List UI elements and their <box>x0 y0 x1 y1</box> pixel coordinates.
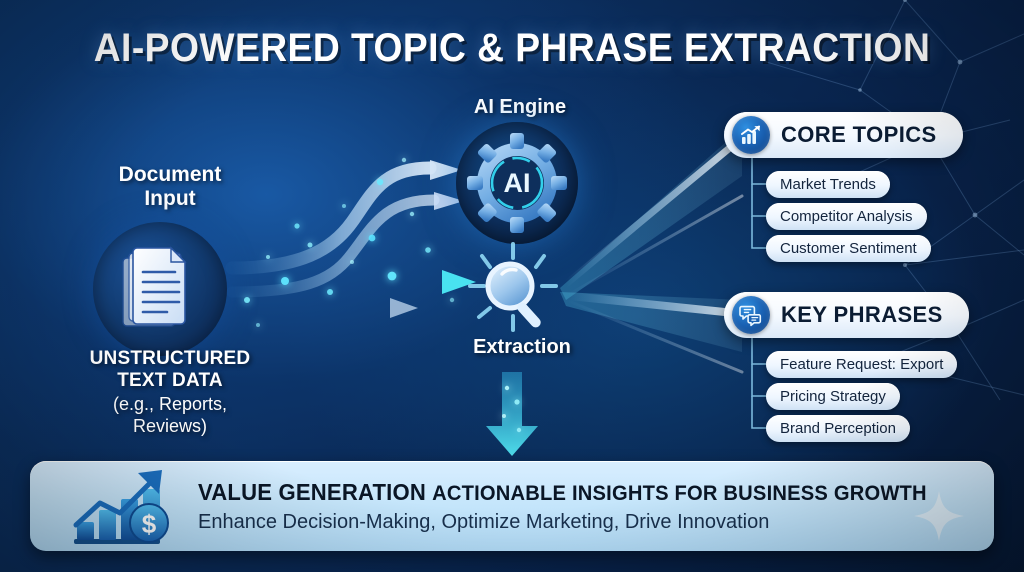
chat-bubbles-icon <box>732 296 770 334</box>
banner-headline: VALUE GENERATION ACTIONABLE INSIGHTS FOR… <box>198 479 927 506</box>
gear-icon: AI <box>456 122 578 244</box>
documents-stack-icon <box>93 222 227 356</box>
category-key-phrases-title: KEY PHRASES <box>781 302 943 328</box>
category-core-topics[interactable]: CORE TOPICS <box>724 112 963 158</box>
ai-engine-circle: AI <box>456 122 578 244</box>
topic-item-label: Competitor Analysis <box>780 208 913 225</box>
category-core-topics-title: CORE TOPICS <box>781 122 937 148</box>
caption-bold-line1: UNSTRUCTURED <box>40 348 300 370</box>
infographic-canvas: AI-POWERED TOPIC & PHRASE EXTRACTION Doc… <box>0 0 1024 572</box>
topic-item-customer-sentiment[interactable]: Customer Sentiment <box>766 235 931 262</box>
phrase-item-label: Pricing Strategy <box>780 388 886 405</box>
topic-item-label: Market Trends <box>780 176 876 193</box>
extraction-label: Extraction <box>412 336 632 359</box>
topic-item-competitor-analysis[interactable]: Competitor Analysis <box>766 203 927 230</box>
topic-item-market-trends[interactable]: Market Trends <box>766 171 890 198</box>
document-icon-circle <box>93 222 227 356</box>
document-input-label: Document Input <box>60 163 280 210</box>
banner-headline-rest: ACTIONABLE INSIGHTS FOR BUSINESS GROWTH <box>432 482 927 505</box>
caption-bold-line2: TEXT DATA <box>40 370 300 392</box>
growth-chart-dollar-icon: $ <box>64 467 184 545</box>
category-key-phrases[interactable]: KEY PHRASES <box>724 292 969 338</box>
ai-engine-label: AI Engine <box>420 96 620 119</box>
phrase-item-feature-request[interactable]: Feature Request: Export <box>766 351 957 378</box>
value-generation-banner: $ VALUE GENERATION ACTIONABLE INSIGHTS F… <box>30 461 994 551</box>
bar-chart-growth-icon <box>732 116 770 154</box>
phrase-item-label: Feature Request: Export <box>780 356 943 373</box>
phrase-item-brand-perception[interactable]: Brand Perception <box>766 415 910 442</box>
ai-badge-text: AI <box>504 168 531 198</box>
document-input-label-line1: Document <box>119 163 222 186</box>
caption-note-line2: Reviews) <box>40 416 300 437</box>
banner-headline-strong: VALUE GENERATION <box>198 479 426 505</box>
caption-note-line1: (e.g., Reports, <box>40 394 300 415</box>
phrase-item-label: Brand Perception <box>780 420 896 437</box>
sparkle-icon <box>912 489 966 543</box>
phrase-item-pricing-strategy[interactable]: Pricing Strategy <box>766 383 900 410</box>
page-title: AI-POWERED TOPIC & PHRASE EXTRACTION <box>36 26 988 71</box>
svg-text:$: $ <box>142 509 157 539</box>
topic-item-label: Customer Sentiment <box>780 240 917 257</box>
banner-subline: Enhance Decision-Making, Optimize Market… <box>198 511 957 534</box>
magnifier-icon <box>452 238 574 350</box>
document-caption: UNSTRUCTURED TEXT DATA (e.g., Reports, R… <box>40 348 300 437</box>
document-input-label-line2: Input <box>144 187 195 210</box>
